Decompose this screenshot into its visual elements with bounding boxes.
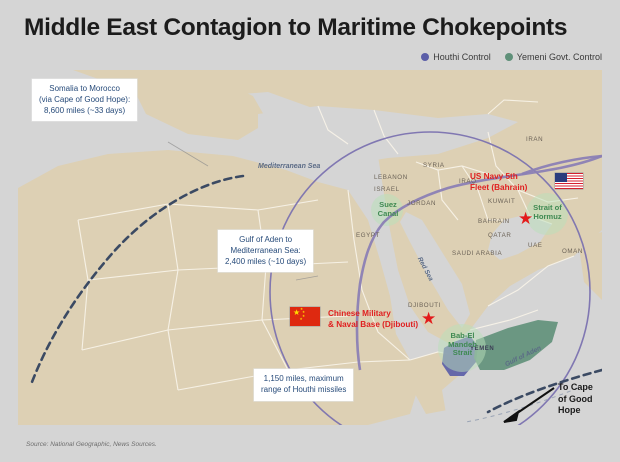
country-label-israel: ISRAEL [374,186,400,193]
infographic-root: Middle East Contagion to Maritime Chokep… [0,0,620,462]
page-title: Middle East Contagion to Maritime Chokep… [24,14,567,42]
missile-range-line-1: 1,150 miles, maximum [261,374,346,385]
somalia-morocco-line-1: Somalia to Morocco [39,84,130,95]
country-label-lebanon: LEBANON [374,174,408,181]
callout-gulf-of-aden-to-mediterranean: Gulf of Aden to Mediterranean Sea: 2,400… [218,230,313,272]
country-label-djibouti: DJIBOUTI [408,302,441,309]
legend-item-yemeni-govt: Yemeni Govt. Control [505,52,602,62]
sea-label-mediterranean: Mediterranean Sea [258,163,320,170]
china-flag-icon: ★ ★ ★ ★ ★ [290,307,320,326]
country-label-oman: OMAN [562,248,583,255]
gulf-aden-line-3: 2,400 miles (~10 days) [225,257,306,268]
somalia-morocco-line-2: (via Cape of Good Hope): [39,95,130,106]
country-label-saudi-arabia: SAUDI ARABIA [452,250,502,257]
callout-somalia-to-morocco: Somalia to Morocco (via Cape of Good Hop… [32,79,137,121]
us-flag-canton [555,173,567,182]
legend: Houthi Control Yemeni Govt. Control [421,52,602,62]
us-navy-line-1: US Navy 5th [470,172,527,183]
china-base-line-2: & Naval Base (Djibouti) [328,320,418,331]
country-label-iran: IRAN [526,136,543,143]
chokepoint-label-suez-canal: Suez Canal [371,201,405,218]
country-label-syria: SYRIA [423,162,445,169]
us-flag-icon [555,173,583,189]
legend-label-houthi: Houthi Control [433,52,491,62]
legend-swatch-houthi [421,53,429,61]
label-us-navy-fifth-fleet: US Navy 5th Fleet (Bahrain) [470,172,527,193]
china-flag-star-small-4: ★ [300,318,303,321]
us-navy-line-2: Fleet (Bahrain) [470,183,527,194]
country-label-uae: UAE [528,242,543,249]
label-to-cape-of-good-hope: To Cape of Good Hope [558,382,593,417]
gulf-aden-line-2: Mediterranean Sea: [225,246,306,257]
bab-line-3: Strait [440,349,485,358]
source-note: Source: National Geographic, News Source… [26,441,157,448]
legend-swatch-yemeni-govt [505,53,513,61]
country-label-bahrain: BAHRAIN [478,218,510,225]
missile-range-line-2: range of Houthi missiles [261,385,346,396]
marker-star-bahrain: ★ [518,210,533,227]
cape-line-1: To Cape [558,382,593,394]
somalia-morocco-line-3: 8,600 miles (~33 days) [39,106,130,117]
chokepoint-label-bab-el-mandeb: Bab-El Mandeb Strait [440,332,485,358]
china-base-line-1: Chinese Military [328,309,418,320]
legend-item-houthi: Houthi Control [421,52,491,62]
country-label-jordan: JORDAN [407,200,436,207]
country-label-qatar: QATAR [488,232,511,239]
cape-line-2: of Good [558,394,593,406]
legend-label-yemeni-govt: Yemeni Govt. Control [517,52,602,62]
country-label-kuwait: KUWAIT [488,198,515,205]
label-chinese-military-naval-base: Chinese Military & Naval Base (Djibouti) [328,309,418,330]
suez-canal-line-2: Canal [371,210,405,219]
country-label-egypt: EGYPT [356,232,380,239]
callout-missile-range: 1,150 miles, maximum range of Houthi mis… [254,369,353,401]
cape-line-3: Hope [558,405,593,417]
map-canvas: Mediterranean Sea Red Sea Gulf of Aden L… [18,70,602,425]
gulf-aden-line-1: Gulf of Aden to [225,235,306,246]
marker-star-djibouti: ★ [421,310,436,327]
